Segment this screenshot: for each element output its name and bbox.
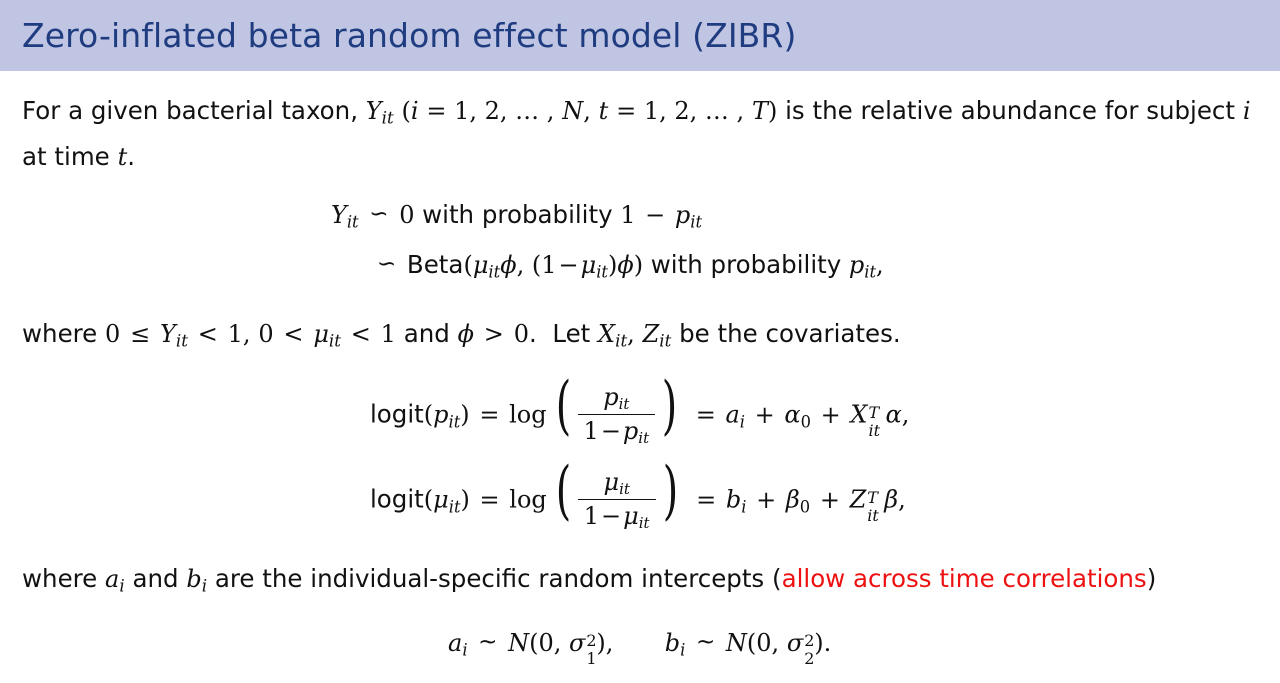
logitp-equals2: = [694,401,718,429]
logitmu-den-minus: − [599,502,623,530]
equation-distribution-beta: ∽ Beta(μitϕ, (1−μit)ϕ) with probability … [374,250,884,282]
logitmu-beta: β [884,486,898,514]
logitp-den-p-subscript: it [638,429,649,447]
where1-lt3: < [349,320,373,348]
distributed-as-icon: ∼ [475,629,500,655]
logitp-fname: logit [370,400,424,429]
where2-b-subscript: i [202,577,207,596]
where1-zero: 0 [105,320,120,348]
where1-zero3: 0 [514,320,529,348]
logitmu-plus2: + [818,486,842,514]
normal-separator: , [606,629,614,657]
logitmu-equals2: = [694,486,718,514]
logitp-alpha: α [885,401,901,429]
where-constraints-paragraph: where 0 ≤ Yit < 1, 0 < μit < 1 and ϕ > 0… [22,315,1262,361]
normal-sigma2-subscript: 2 [804,649,814,668]
intro-paren-close: ) [768,97,777,125]
logitp-p-subscript: it [449,412,461,431]
intro-paren-open: ( [401,97,410,125]
normal-paren-close1: ) [596,629,605,657]
logitp-num-p-subscript: it [619,395,630,413]
intro-var-Y: Y [366,97,382,125]
intro-period: . [127,142,135,171]
logitp-den-p: p [623,417,638,445]
logitmu-den-one: 1 [584,502,599,530]
intro-time-t: t [118,143,128,171]
equation-random-effects-normal: ai ∼ N(0, σ21), bi ∼ N(0, σ22). [448,629,831,660]
normal-paren-close2: ) [814,629,823,657]
normal-N2: N [726,629,747,657]
dist1-prob-p: p [675,201,690,229]
intro-range-t: = 1, 2, … , [616,97,744,125]
intro-index-T: T [752,97,768,125]
logitp-a: a [725,401,739,429]
where2-a: a [105,565,119,593]
dist2-minus: − [557,251,581,279]
logitmu-equals1: = [478,486,502,514]
dist2-mu2-subscript: it [596,263,608,282]
distributed-as-icon: ∽ [366,201,391,227]
normal-comma1: , [554,629,562,657]
where2-mid: are the individual-specific random inter… [215,564,764,593]
dist2-name-beta: Beta [407,250,464,279]
logitmu-Z: Z [850,486,867,514]
dist2-trailing-comma: , [876,251,884,279]
logitmu-fname: logit [370,485,424,514]
normal-period: . [824,629,832,657]
logitp-X: X [850,401,867,429]
slide-title-bar: Zero-inflated beta random effect model (… [0,0,1280,71]
where1-lead: where [22,319,97,348]
dist2-mu: μ [473,251,489,279]
logitmu-num-mu: μ [603,468,619,496]
logitmu-beta0-subscript: 0 [800,497,810,516]
where1-dot: . [529,319,537,348]
where1-mu-subscript: it [329,332,341,351]
normal-paren-open2: ( [747,629,756,657]
slide: Zero-inflated beta random effect model (… [0,0,1280,683]
where2-a-subscript: i [119,577,124,596]
dist2-paren-open: ( [463,251,472,279]
where1-X-subscript: it [615,332,627,351]
logitp-X-superscript: T [868,403,879,422]
intro-index-N: N [562,97,583,125]
where1-let: Let [552,319,590,348]
logitmu-den-mu-subscript: it [639,514,650,532]
dist2-phi: ϕ [500,251,516,279]
where1-X: X [598,320,615,348]
where1-Z: Z [643,320,660,348]
logitmu-Z-subscript: it [867,506,879,525]
dist2-prob-p-subscript: it [864,263,876,282]
normal-sigma1-subscript: 1 [586,649,596,668]
where1-Y-subscript: it [176,332,188,351]
where2-paren-close: ) [1147,564,1157,593]
distributed-as-icon: ∼ [693,629,718,655]
dist2-mu2: μ [581,251,597,279]
where1-le: ≤ [128,320,152,348]
logitp-log: log [509,401,547,429]
where2-paren-open: ( [772,564,782,593]
intro-index-t: t [599,97,609,125]
intro-comma: , [583,97,591,125]
where1-lt1: < [196,320,220,348]
normal-sigma1-superscript: 2 [586,631,596,650]
where1-comma2: , [627,320,635,348]
where2-b: b [186,565,201,593]
logitp-fraction-numerator: pit [578,383,656,414]
intro-var-Y-subscript: it [382,109,394,128]
where1-phi: ϕ [458,320,474,348]
equation-logit-mu: logit(μit) = log(μit1−μit) = bi + β0 + Z… [370,469,906,533]
logitp-paren-close: ) [460,401,469,429]
normal-sigma2-superscript: 2 [804,631,814,650]
where1-and: and [404,319,450,348]
normal-a-subscript: i [462,641,467,660]
where2-lead: where [22,564,97,593]
logitp-plus1: + [753,401,777,429]
intro-paragraph: For a given bacterial taxon, Yit (i = 1,… [22,92,1254,176]
where2-highlight-text: allow across time correlations [782,564,1147,593]
intro-index-i: i [411,97,419,125]
dist2-text: with probability [651,250,842,279]
logitp-comma: , [902,401,910,429]
logitp-fraction: pit1−pit [578,383,656,447]
dist2-comma: , [517,251,525,279]
logitp-p: p [433,401,448,429]
intro-subject-i: i [1243,97,1251,125]
logitp-den-minus: − [599,417,623,445]
dist1-prob-one: 1 [620,201,635,229]
logitp-paren-open: ( [424,401,433,429]
logitmu-paren-open: ( [424,486,433,514]
logitp-a-subscript: i [740,412,745,431]
dist1-prob-p-subscript: it [690,213,702,232]
logitmu-fraction: μit1−μit [578,468,656,532]
logitp-fraction-denominator: 1−pit [578,414,656,447]
normal-sigma1: σ [569,629,585,657]
where1-Y: Y [160,320,176,348]
dist2-paren-close: ) [634,251,643,279]
logitp-X-subscript: it [868,421,880,440]
logitmu-b-subscript: i [741,497,746,516]
logitmu-beta0: β [786,486,800,514]
logitp-num-p: p [603,383,618,411]
logitmu-Z-superscript: T [867,488,878,507]
logitmu-mu: μ [433,486,449,514]
logitp-alpha0-subscript: 0 [801,412,811,431]
dist2-inner-paren-open: ( [532,251,541,279]
where1-lt2: < [281,320,305,348]
where2-and: and [132,564,178,593]
dist2-phi2: ϕ [617,251,633,279]
intro-text-part3: at time [22,142,110,171]
where1-comma1: , [243,320,251,348]
intro-text-part2: is the relative abundance for subject [785,96,1235,125]
dist1-minus: − [643,201,667,229]
logitp-equals1: = [477,401,501,429]
where1-zero2: 0 [258,320,273,348]
normal-b: b [665,629,680,657]
logitp-alpha0: α [784,401,800,429]
where1-mu: μ [313,320,329,348]
logitmu-log: log [509,486,547,514]
dist1-var-Y-subscript: it [347,213,359,232]
logitp-plus2: + [819,401,843,429]
logitmu-num-mu-subscript: it [619,480,630,498]
logitmu-mu-subscript: it [449,497,461,516]
intro-text-part1: For a given bacterial taxon, [22,96,358,125]
dist2-prob-p: p [849,251,864,279]
dist1-text: with probability [422,200,613,229]
logitmu-fraction-numerator: μit [578,468,656,499]
dist1-var-Y: Y [331,201,347,229]
normal-zero1: 0 [538,629,553,657]
distributed-as-icon: ∽ [374,251,399,277]
normal-sigma2: σ [787,629,803,657]
logitmu-plus1: + [754,486,778,514]
where1-Z-subscript: it [659,332,671,351]
intro-range-i: = 1, 2, … , [426,97,554,125]
logitmu-paren-close: ) [461,486,470,514]
logitmu-comma: , [898,486,906,514]
logitmu-b: b [726,486,741,514]
normal-a: a [448,629,462,657]
dist2-one: 1 [541,251,556,279]
normal-zero2: 0 [756,629,771,657]
dist1-value-zero: 0 [399,201,414,229]
where-random-intercepts-paragraph: where ai and bi are the individual-speci… [22,560,1262,606]
logitp-den-one: 1 [584,417,599,445]
logitmu-fraction-denominator: 1−μit [578,499,656,532]
logitmu-den-mu: μ [623,502,639,530]
page-title: Zero-inflated beta random effect model (… [0,16,796,55]
slide-body: For a given bacterial taxon, Yit (i = 1,… [0,71,1280,683]
where1-tail: be the covariates. [679,319,901,348]
equation-distribution-zero: Yit ∽ 0 with probability 1 − pit [331,200,702,232]
normal-N1: N [508,629,529,657]
normal-comma2: , [772,629,780,657]
where1-one2: 1 [381,320,396,348]
equation-logit-p: logit(pit) = log(pit1−pit) = ai + α0 + X… [370,384,909,448]
dist2-inner-paren-close: ) [608,251,617,279]
where1-gt: > [482,320,506,348]
where1-one: 1 [228,320,243,348]
normal-b-subscript: i [680,641,685,660]
dist2-mu-subscript: it [488,263,500,282]
